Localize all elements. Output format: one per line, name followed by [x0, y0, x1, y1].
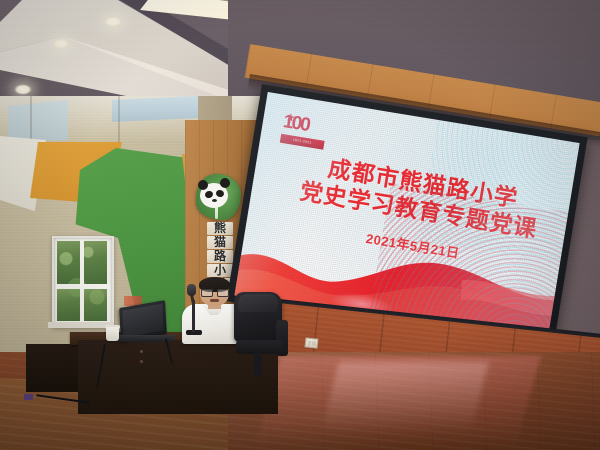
downlight-icon	[52, 38, 70, 49]
downlight-icon	[104, 16, 122, 27]
lens	[201, 289, 213, 297]
desk-side-panel	[26, 344, 84, 392]
chair-headrest	[238, 294, 278, 312]
lens	[217, 289, 229, 297]
panda-ear-icon	[198, 180, 208, 190]
panda-nose-icon	[212, 199, 217, 202]
presenter-mouth	[210, 299, 219, 302]
executive-office-chair[interactable]	[232, 292, 290, 376]
eyeglasses-icon	[201, 289, 228, 295]
cpc-centennial-100-emblem: 100 1921-2021	[279, 111, 328, 154]
desk-fitting	[140, 360, 143, 363]
cable-plug	[24, 394, 33, 400]
gooseneck-microphone	[187, 284, 196, 296]
leaf-stem-icon	[215, 206, 218, 219]
switch-toggle[interactable]	[312, 341, 316, 346]
school-name-char: 熊	[207, 222, 233, 235]
microphone-stem	[192, 300, 195, 332]
window-pane	[57, 241, 80, 285]
window	[52, 236, 114, 328]
school-name-char: 小	[207, 264, 233, 277]
window-mullion-vertical	[80, 240, 84, 324]
window-pane	[84, 241, 107, 285]
panda-leaf-logo	[196, 174, 241, 220]
clerestory-glass-center	[112, 96, 198, 122]
chair-pedestal	[254, 352, 262, 376]
window-pane	[84, 289, 107, 321]
school-name-char: 猫	[207, 236, 233, 249]
desk-fitting	[140, 350, 143, 353]
photo-scene: 熊 猫 路 小 学 100 1921-2021 成都市熊猫路小学 党史学习教育专…	[0, 0, 600, 450]
light-switch-plate[interactable]	[304, 337, 318, 348]
window-pane	[57, 289, 80, 321]
downlight-icon	[14, 84, 32, 95]
window-mullion-horizontal	[56, 284, 110, 289]
switch-toggle[interactable]	[307, 340, 311, 345]
panda-ear-icon	[220, 178, 230, 188]
school-name-char: 路	[207, 250, 233, 263]
drinking-cup	[106, 327, 119, 341]
clerestory-glass-left	[8, 100, 68, 142]
